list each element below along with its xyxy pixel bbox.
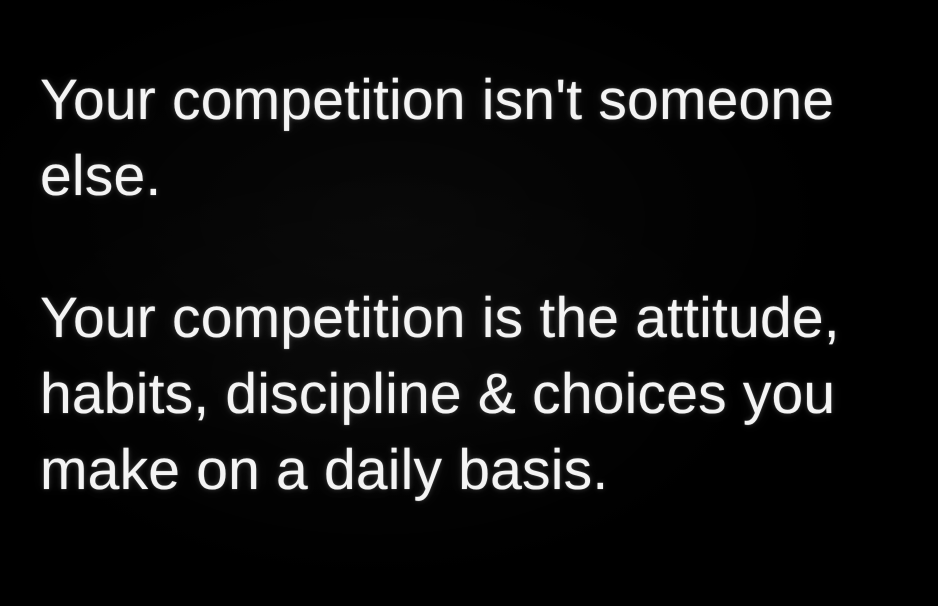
quote-paragraph-1: Your competition isn't someone else. xyxy=(40,62,910,214)
quote-text-block: Your competition isn't someone else. You… xyxy=(40,62,910,508)
quote-card: Your competition isn't someone else. You… xyxy=(0,0,938,606)
quote-paragraph-2: Your competition is the attitude, habits… xyxy=(40,280,910,508)
